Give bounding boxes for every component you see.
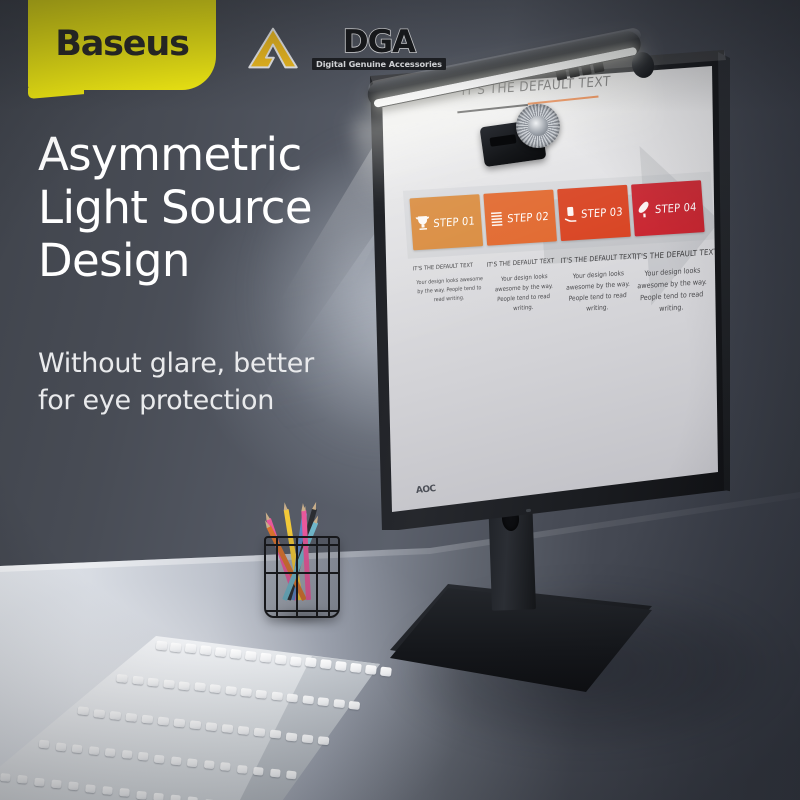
keyboard-key[interactable] <box>365 665 377 675</box>
keyboard-key[interactable] <box>17 775 28 784</box>
keyboard-key[interactable] <box>209 684 221 693</box>
column-heading: IT'S THE DEFAULT TEXT <box>486 257 556 268</box>
subheadline-line-2: for eye protection <box>38 382 368 419</box>
keyboard-key[interactable] <box>220 762 231 771</box>
keyboard-key[interactable] <box>155 640 167 650</box>
headline-line-1: Asymmetric <box>38 128 368 181</box>
headline-line-2: Light Source <box>38 181 368 234</box>
baseus-logo-badge: Baseus <box>28 0 216 90</box>
keyboard-key[interactable] <box>153 792 164 800</box>
slide-columns: IT'S THE DEFAULT TEXT Your design looks … <box>412 248 708 330</box>
keyboard-key[interactable] <box>105 748 116 757</box>
hand-device-icon <box>562 205 578 224</box>
keyboard-key[interactable] <box>302 696 314 705</box>
keyboard-key[interactable] <box>335 661 347 671</box>
step-item: STEP 03 <box>557 185 631 241</box>
keyboard-key[interactable] <box>178 681 190 690</box>
step-item: STEP 01 <box>409 194 483 250</box>
keyboard-key[interactable] <box>350 663 362 673</box>
keyboard-key[interactable] <box>287 694 299 703</box>
step-item: STEP 02 <box>483 189 557 245</box>
pencil-cup <box>264 536 340 618</box>
dga-triangle-a-logo-icon <box>246 26 300 70</box>
keyboard-key[interactable] <box>170 642 182 652</box>
lamp-knurled-knob[interactable] <box>516 104 560 148</box>
keyboard-key[interactable] <box>301 734 312 743</box>
keyboard-key[interactable] <box>305 658 317 668</box>
step-label: STEP 01 <box>433 214 475 230</box>
step-item: STEP 04 <box>631 180 705 236</box>
product-ad-scene: IT'S THE DEFAULT TEXT STEP 01 STEP 02 <box>0 0 800 800</box>
headline-block: Asymmetric Light Source Design <box>38 128 368 287</box>
keyboard-key[interactable] <box>116 673 128 682</box>
keyboard-key[interactable] <box>185 644 197 654</box>
keyboard-key[interactable] <box>290 656 302 666</box>
keyboard-key[interactable] <box>205 722 216 731</box>
baseus-wordmark: Baseus <box>55 24 188 64</box>
keyboard-key[interactable] <box>253 766 264 775</box>
keyboard-key[interactable] <box>55 742 66 751</box>
keyboard-key[interactable] <box>142 714 153 723</box>
keyboard-key[interactable] <box>39 740 50 749</box>
monitor-brand-logo: AOC <box>416 484 437 496</box>
keyboard-key[interactable] <box>348 701 360 710</box>
keyboard-key[interactable] <box>88 746 99 755</box>
keyboard-key[interactable] <box>132 675 144 684</box>
keyboard-key[interactable] <box>260 652 272 662</box>
keyboard-key[interactable] <box>34 777 45 786</box>
keyboard-key[interactable] <box>126 713 137 722</box>
keyboard-key[interactable] <box>72 744 83 753</box>
keyboard-key[interactable] <box>237 764 248 773</box>
keyboard-key[interactable] <box>269 730 280 739</box>
column-body: Your design looks awesome by the way. Pe… <box>636 264 707 317</box>
keyboard-key[interactable] <box>85 784 96 793</box>
slide-column: IT'S THE DEFAULT TEXT Your design looks … <box>634 248 709 316</box>
keyboard-key[interactable] <box>171 756 182 765</box>
keyboard-key[interactable] <box>154 754 165 763</box>
subheadline-block: Without glare, better for eye protection <box>38 345 368 419</box>
keyboard-keys <box>0 634 381 800</box>
keyboard-key[interactable] <box>102 786 113 795</box>
keyboard-key[interactable] <box>138 752 149 761</box>
keyboard-key[interactable] <box>119 788 130 797</box>
coil-icon <box>489 210 505 229</box>
dga-wordmark: DGA <box>343 27 415 57</box>
keyboard-key[interactable] <box>237 726 248 735</box>
keyboard-key[interactable] <box>270 769 281 778</box>
subheadline-line-1: Without glare, better <box>38 345 368 382</box>
keyboard-key[interactable] <box>286 771 297 780</box>
keyboard-key[interactable] <box>275 654 287 664</box>
keyboard-key[interactable] <box>245 651 257 661</box>
dga-logo-group: DGA Digital Genuine Accessories <box>246 26 446 70</box>
keyboard-key[interactable] <box>136 790 147 799</box>
pencil-holder-group <box>248 468 358 618</box>
keyboard-key[interactable] <box>230 649 242 659</box>
keyboard-key[interactable] <box>320 659 332 669</box>
column-heading: IT'S THE DEFAULT TEXT <box>413 262 483 272</box>
keyboard-key[interactable] <box>170 795 181 800</box>
dga-tagline: Digital Genuine Accessories <box>312 58 446 70</box>
keyboard-key[interactable] <box>189 720 200 729</box>
keyboard-key[interactable] <box>204 760 215 769</box>
keyboard-key[interactable] <box>163 679 175 688</box>
keyboard-key[interactable] <box>240 688 252 697</box>
keyboard-key[interactable] <box>187 758 198 767</box>
column-body: Your design looks awesome by the way. Pe… <box>414 275 485 307</box>
keyboard-key[interactable] <box>215 647 227 657</box>
step-label: STEP 03 <box>581 205 623 221</box>
keyboard-key[interactable] <box>147 677 159 686</box>
step-label: STEP 04 <box>655 200 697 216</box>
trophy-icon <box>415 214 431 233</box>
keyboard-key[interactable] <box>333 699 345 708</box>
column-body: Your design looks awesome by the way. Pe… <box>488 271 559 316</box>
keyboard-key[interactable] <box>174 718 185 727</box>
cone-icon <box>636 200 652 219</box>
slide-column: IT'S THE DEFAULT TEXT Your design looks … <box>486 257 561 325</box>
keyboard-key[interactable] <box>0 773 11 782</box>
keyboard-key[interactable] <box>110 711 121 720</box>
slide-column: IT'S THE DEFAULT TEXT Your design looks … <box>412 262 487 330</box>
column-body: Your design looks awesome by the way. Pe… <box>562 268 633 317</box>
keyboard[interactable] <box>0 636 380 800</box>
keyboard-key[interactable] <box>256 690 268 699</box>
keyboard-key[interactable] <box>158 716 169 725</box>
keyboard-key[interactable] <box>271 692 283 701</box>
keyboard-key[interactable] <box>51 780 62 789</box>
keyboard-key[interactable] <box>121 750 132 759</box>
keyboard-key[interactable] <box>194 683 206 692</box>
keyboard-key[interactable] <box>317 736 328 745</box>
keyboard-key[interactable] <box>225 686 237 695</box>
keyboard-key[interactable] <box>379 666 391 676</box>
slide-column: IT'S THE DEFAULT TEXT Your design looks … <box>560 253 635 321</box>
headline-line-3: Design <box>38 234 368 287</box>
keyboard-key[interactable] <box>285 732 296 741</box>
dga-text-block: DGA Digital Genuine Accessories <box>312 27 446 70</box>
step-label: STEP 02 <box>507 209 549 225</box>
keyboard-key[interactable] <box>253 728 264 737</box>
keyboard-key[interactable] <box>78 707 89 716</box>
keyboard-key[interactable] <box>94 709 105 718</box>
keyboard-key[interactable] <box>221 724 232 733</box>
keyboard-key[interactable] <box>317 697 329 706</box>
keyboard-key[interactable] <box>200 645 212 655</box>
keyboard-key[interactable] <box>68 782 79 791</box>
